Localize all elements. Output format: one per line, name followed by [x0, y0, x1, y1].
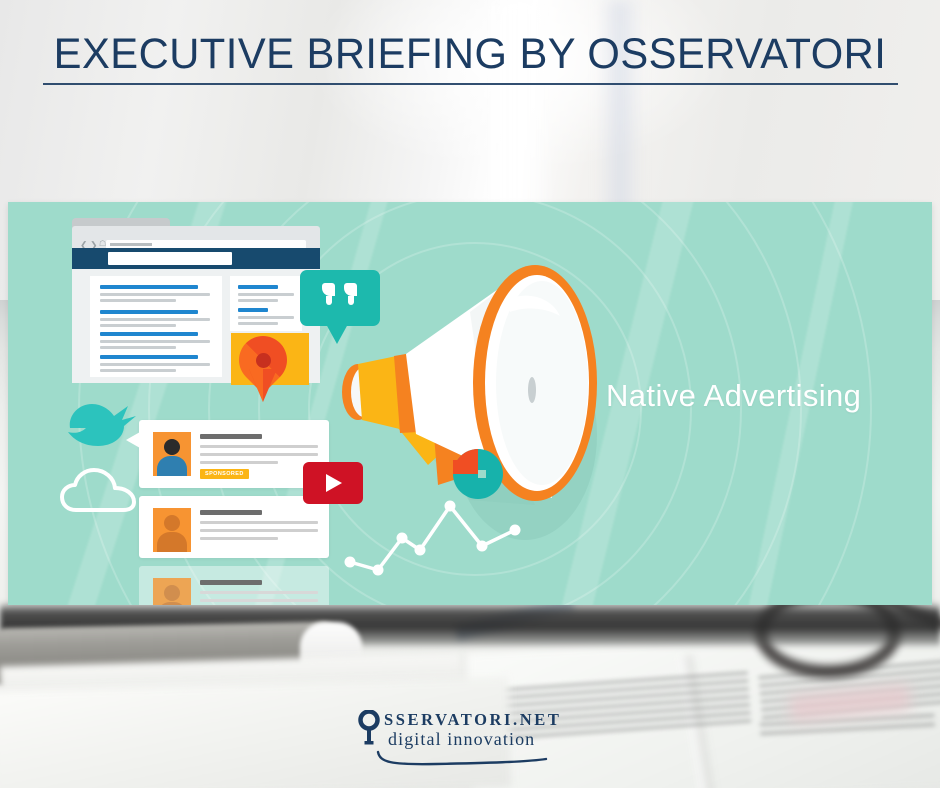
feed-card-faded[interactable]: [139, 566, 329, 605]
search-result-item[interactable]: [100, 285, 210, 305]
browser-chrome: ❮ ❯ ☖: [72, 226, 320, 248]
feed-card-line: [200, 461, 278, 464]
feed-card-line: [200, 445, 318, 448]
line-chart-svg: [340, 488, 530, 578]
avatar: [153, 432, 191, 476]
feed-card-line: [200, 537, 278, 540]
feed-card-line: [200, 529, 318, 532]
logo-wordmark: SSERVATORI.NET: [384, 710, 562, 730]
search-result-item[interactable]: [100, 355, 210, 375]
feed-card-line: [200, 599, 318, 602]
page-root: EXECUTIVE BRIEFING BY OSSERVATORI ❮ ❯ ☖: [0, 0, 940, 788]
page-title: EXECUTIVE BRIEFING BY OSSERVATORI: [14, 28, 926, 80]
feed-card-line: [200, 591, 318, 594]
feed-card-tail: [126, 432, 140, 448]
search-results-column: [90, 276, 222, 377]
feed-card-line: [200, 453, 318, 456]
osservatori-magnifier-icon: [358, 710, 380, 746]
feed-card-title: [200, 580, 262, 585]
feed-card-line: [200, 521, 318, 524]
avatar: [153, 578, 191, 605]
logo-swoosh: [376, 750, 566, 768]
avatar: [153, 508, 191, 552]
title-underline: [43, 83, 898, 85]
feed-card-title: [200, 510, 262, 515]
feed-card-sponsored[interactable]: SPONSORED: [139, 420, 329, 488]
status-badge: SPONSORED: [200, 469, 249, 479]
browser-search-band: [72, 248, 320, 269]
search-result-item[interactable]: [100, 332, 210, 352]
native-advertising-banner: ❮ ❯ ☖: [8, 202, 932, 605]
sidebar-result-item[interactable]: [238, 285, 296, 305]
banner-headline: Native Advertising: [606, 378, 861, 414]
feed-card[interactable]: [139, 496, 329, 558]
location-pin-icon: [239, 336, 287, 402]
browser-search-input[interactable]: [108, 252, 232, 265]
search-sidebar-column: [230, 276, 302, 331]
cloud-icon: [60, 466, 140, 514]
feed-card-title: [200, 434, 262, 439]
osservatori-logo[interactable]: SSERVATORI.NET digital innovation: [358, 706, 588, 768]
line-chart-icon: [340, 488, 530, 578]
page-header: EXECUTIVE BRIEFING BY OSSERVATORI: [0, 28, 940, 85]
logo-tagline: digital innovation: [388, 729, 535, 750]
search-result-item[interactable]: [100, 310, 210, 330]
sidebar-result-item[interactable]: [238, 308, 296, 328]
